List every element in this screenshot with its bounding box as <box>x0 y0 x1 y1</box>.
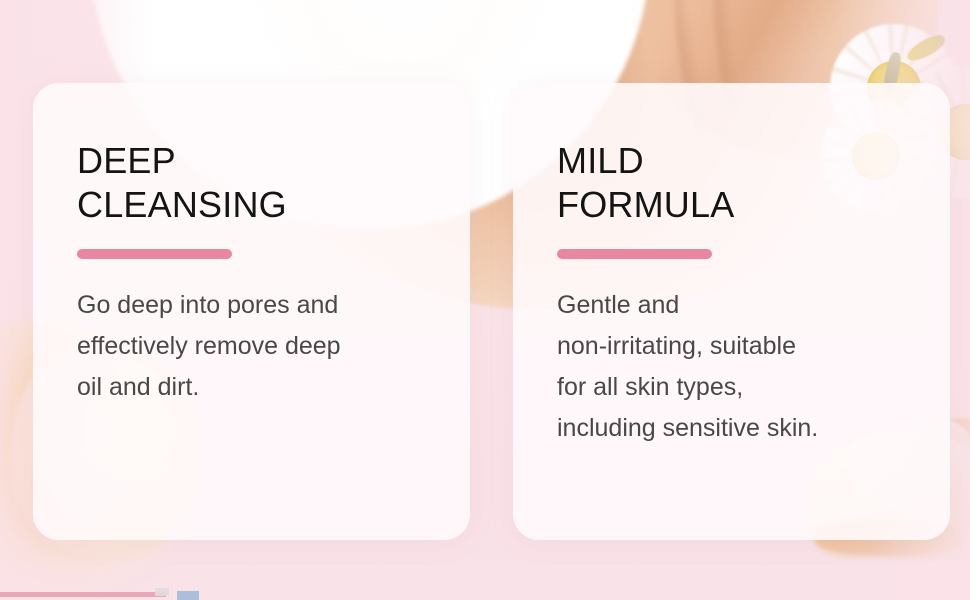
feature-card-list: DEEP CLEANSING Go deep into pores and ef… <box>0 0 970 600</box>
feature-card-mild-formula: MILD FORMULA Gentle and non-irritating, … <box>513 83 950 540</box>
card-title: MILD FORMULA <box>557 139 906 227</box>
card-title: DEEP CLEANSING <box>77 139 426 227</box>
card-accent-rule <box>557 249 712 259</box>
card-accent-rule <box>77 249 232 259</box>
bottom-clipped-strip <box>0 586 970 600</box>
card-description: Go deep into pores and effectively remov… <box>77 285 426 408</box>
bottom-accent-bar <box>0 592 166 597</box>
bottom-clipped-glyph <box>155 588 169 596</box>
card-description: Gentle and non-irritating, suitable for … <box>557 285 906 449</box>
product-feature-banner: DEEP CLEANSING Go deep into pores and ef… <box>0 0 970 600</box>
feature-card-deep-cleansing: DEEP CLEANSING Go deep into pores and ef… <box>33 83 470 540</box>
bottom-clipped-glyph <box>177 591 199 600</box>
